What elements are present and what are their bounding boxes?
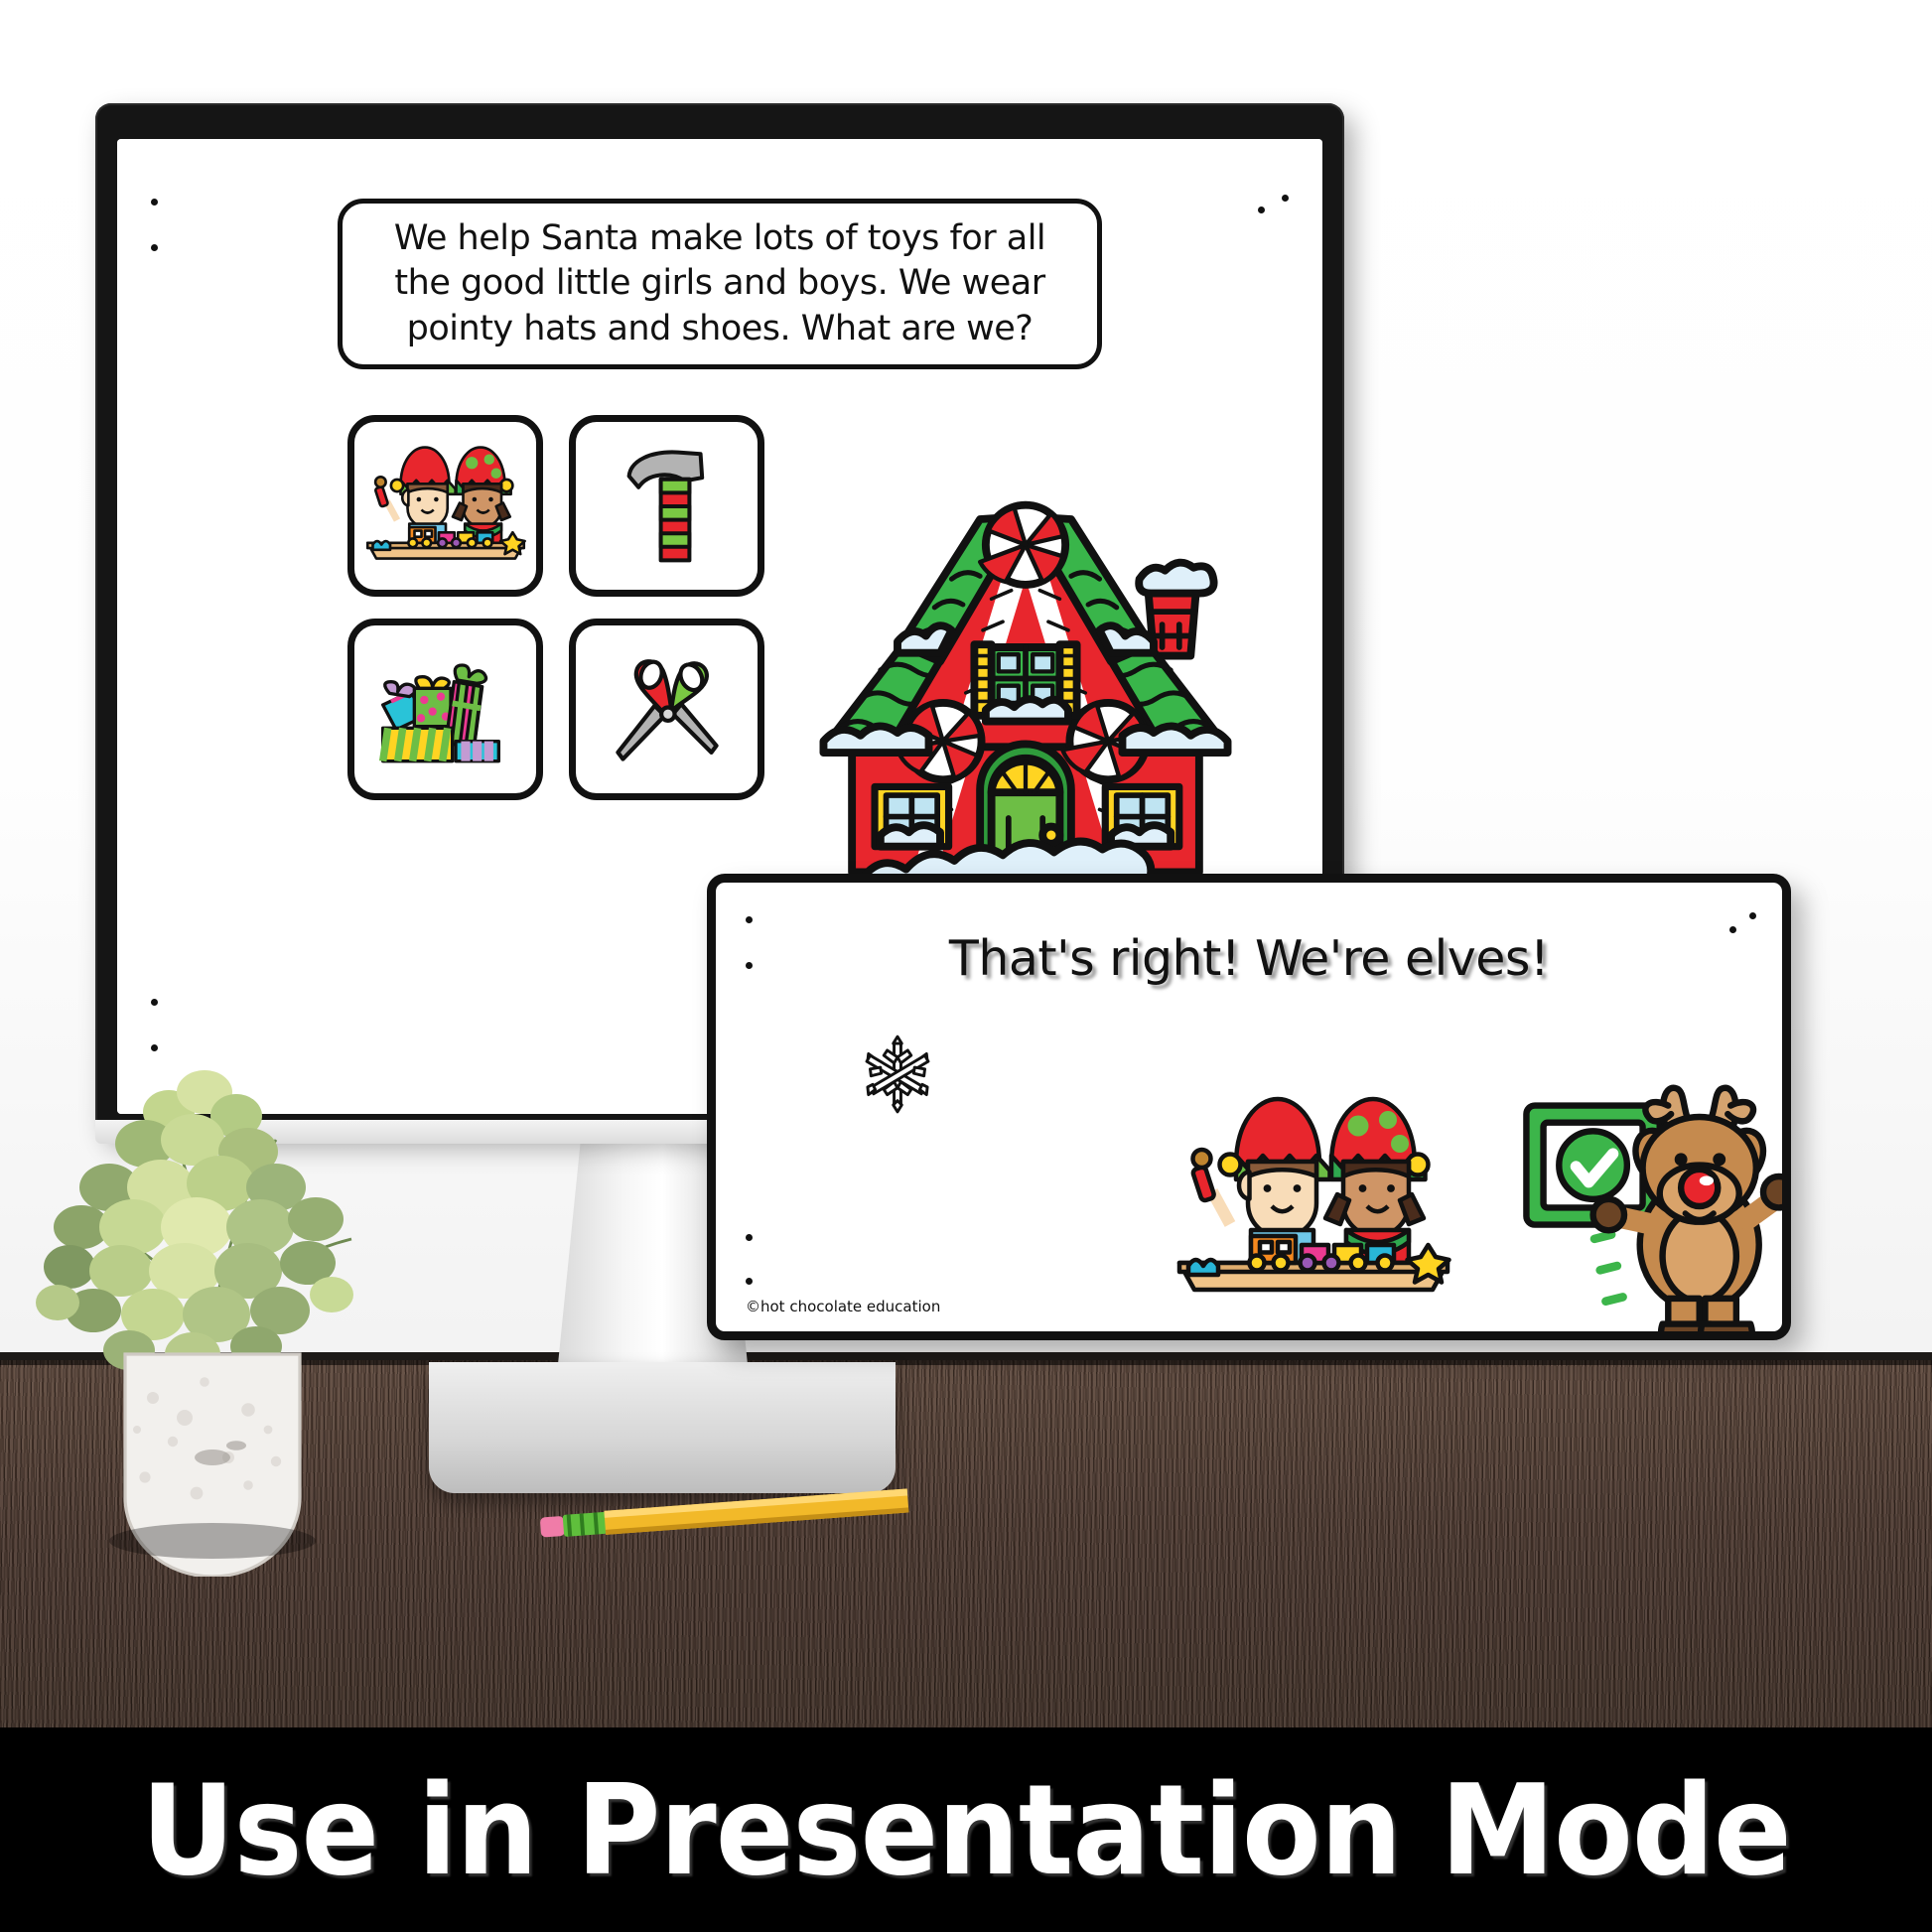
choice-scissors[interactable]: [569, 619, 764, 800]
copyright-text: ©hot chocolate education: [746, 1298, 940, 1315]
gingerbread-house-icon: [812, 477, 1239, 903]
elves-building-toy-train-icon: [358, 437, 533, 576]
corner-dots-top-right: [1275, 195, 1289, 264]
product-photo-scene: We help Santa make lots of toys for all …: [0, 0, 1932, 1727]
potted-eucalyptus-plant: [14, 1021, 411, 1577]
s2-corner-dots-bottom-left: [746, 1234, 759, 1304]
snowflake-icon: [855, 1032, 940, 1117]
scissors-icon: [605, 647, 730, 772]
elves-building-toy-train-icon: [1165, 1081, 1462, 1319]
candy-stripe-hammer-icon: [612, 443, 723, 570]
reindeer-holding-check-sign-icon: [1470, 1057, 1791, 1340]
choice-presents[interactable]: [347, 619, 543, 800]
slide-answer: That's right! We're elves!: [707, 874, 1791, 1340]
monitor-stand-foot: [429, 1362, 896, 1493]
corner-dots-top-left: [151, 199, 165, 268]
choice-elves[interactable]: [347, 415, 543, 597]
screenshot-root: We help Santa make lots of toys for all …: [0, 0, 1932, 1932]
wrapped-presents-icon: [371, 651, 520, 768]
answer-title: That's right! We're elves!: [716, 930, 1782, 987]
choice-hammer[interactable]: [569, 415, 764, 597]
question-textbox: We help Santa make lots of toys for all …: [338, 199, 1102, 369]
bottom-banner: Use in Presentation Mode: [0, 1727, 1932, 1932]
banner-text: Use in Presentation Mode: [141, 1757, 1790, 1903]
answer-choice-grid: [347, 415, 764, 822]
question-text: We help Santa make lots of toys for all …: [368, 216, 1071, 352]
